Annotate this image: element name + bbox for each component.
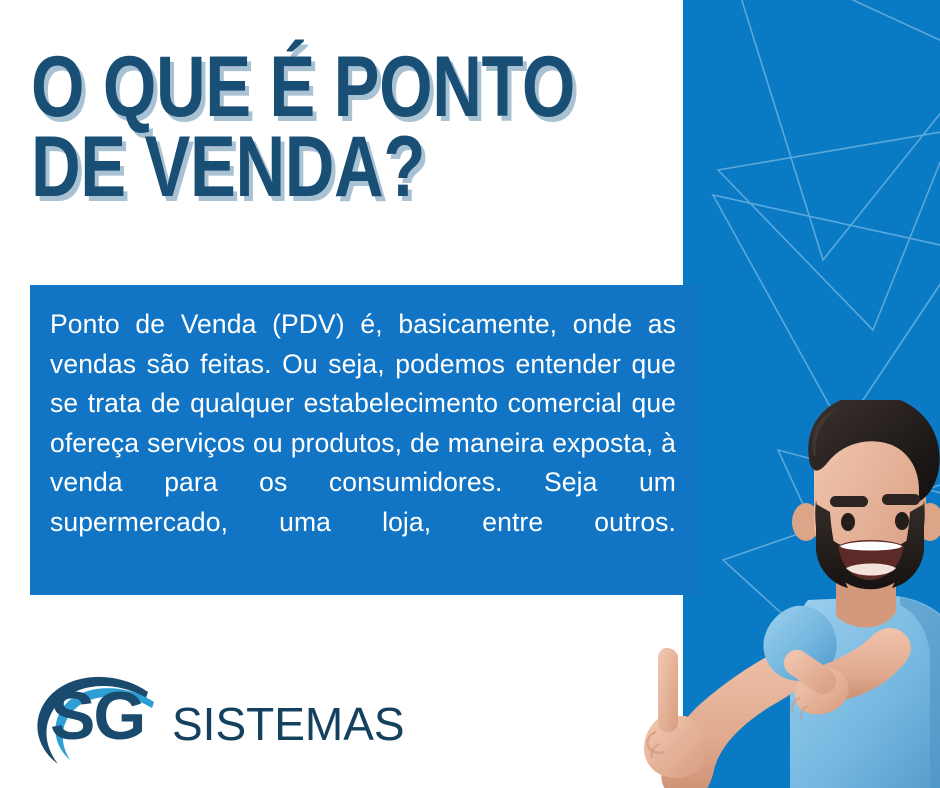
logo-word-text: SISTEMAS bbox=[172, 701, 405, 747]
logo-mark-text: SG bbox=[50, 682, 144, 750]
cartoon-character-illustration bbox=[600, 400, 940, 788]
body-text-panel: Ponto de Venda (PDV) é, basicamente, ond… bbox=[30, 285, 698, 595]
character-head bbox=[792, 400, 940, 589]
page-title-line-2: DE VENDA? bbox=[31, 128, 543, 208]
poster-canvas: O QUE É PONTO DE VENDA? Ponto de Venda (… bbox=[0, 0, 940, 788]
body-paragraph: Ponto de Venda (PDV) é, basicamente, ond… bbox=[50, 305, 676, 582]
page-title: O QUE É PONTO DE VENDA? bbox=[31, 48, 671, 208]
page-title-line-1: O QUE É PONTO bbox=[31, 48, 543, 128]
brand-logo: SG SISTEMAS bbox=[28, 668, 428, 768]
